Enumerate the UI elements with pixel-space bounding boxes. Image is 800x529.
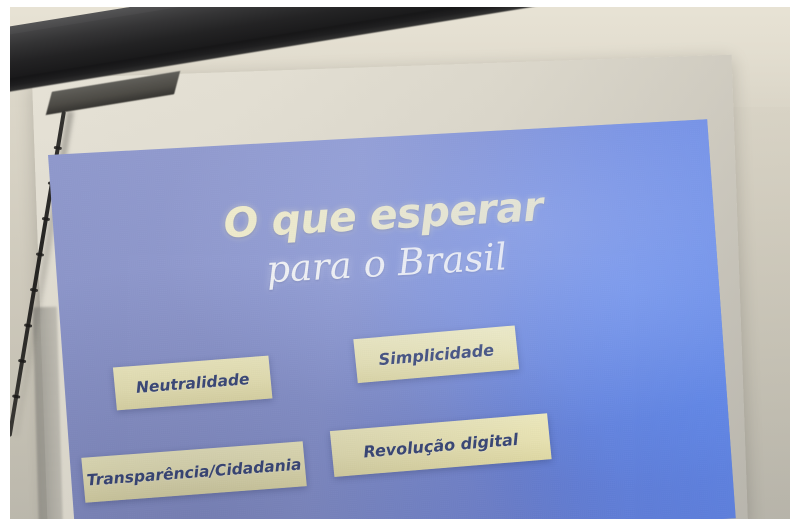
slide-card-neutralidade: Neutralidade [113,356,273,411]
slide-card-group: Neutralidade Simplicidade Transparência/… [62,315,735,519]
slide-background: O que esperar para o Brasil Neutralidade… [48,119,736,519]
slide-card-label: Simplicidade [378,340,495,369]
slide-title-block: O que esperar para o Brasil [52,177,718,302]
photo-white-border: O que esperar para o Brasil Neutralidade… [0,0,800,529]
slide-card-revolucao-digital: Revolução digital [330,413,552,477]
slide-card-label: Neutralidade [135,370,250,397]
slide-card-simplicidade: Simplicidade [353,325,519,383]
photograph: O que esperar para o Brasil Neutralidade… [10,7,790,519]
projected-slide: O que esperar para o Brasil Neutralidade… [48,119,736,519]
slide-card-label: Transparência/Cidadania [86,455,302,489]
slide-card-label: Revolução digital [362,429,519,461]
slide-card-transparencia-cidadania: Transparência/Cidadania [81,441,306,502]
